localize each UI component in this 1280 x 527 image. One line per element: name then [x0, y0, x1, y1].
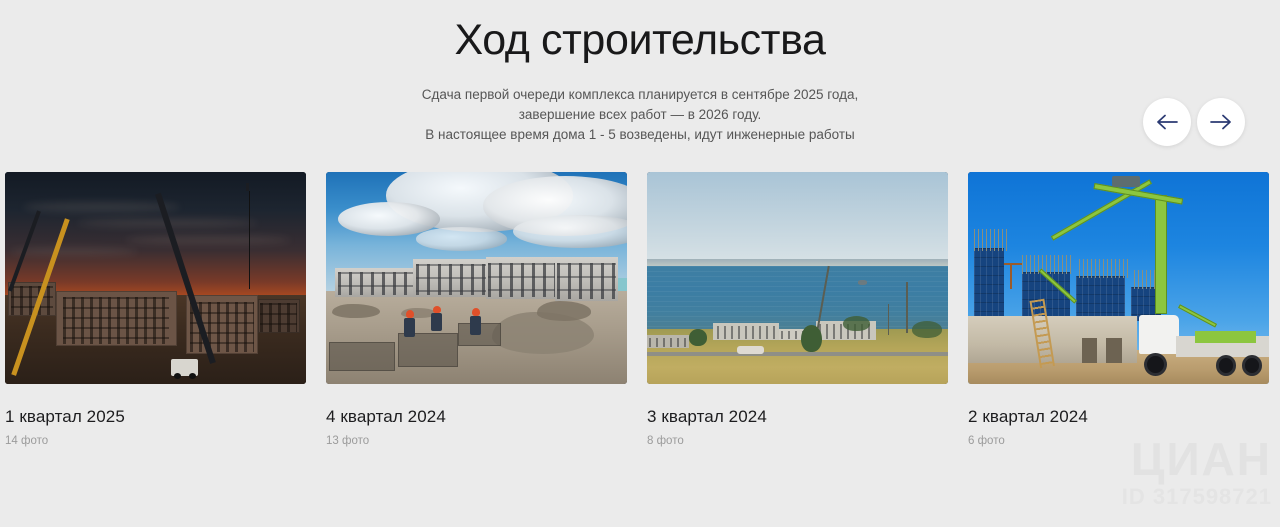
- gallery-card[interactable]: 3 квартал 2024 8 фото: [647, 172, 948, 448]
- carousel-next-button[interactable]: [1197, 98, 1245, 146]
- subtitle-line-1: Сдача первой очереди комплекса планирует…: [0, 85, 1280, 105]
- gallery-photo-sea-panorama[interactable]: [647, 172, 948, 384]
- page-title: Ход строительства: [0, 16, 1280, 64]
- watermark-listing-id: ID 317598721: [1122, 484, 1272, 509]
- gallery-card-title: 3 квартал 2024: [647, 407, 948, 427]
- arrow-right-icon: [1210, 114, 1232, 130]
- gallery-photo-concrete-pump-truck[interactable]: [968, 172, 1269, 384]
- gallery-card-photo-count: 6 фото: [968, 435, 1269, 449]
- gallery-card-photo-count: 14 фото: [5, 435, 306, 449]
- subtitle-line-3: В настоящее время дома 1 - 5 возведены, …: [0, 125, 1280, 145]
- gallery-card[interactable]: 2 квартал 2024 6 фото: [968, 172, 1269, 448]
- gallery-card-title: 4 квартал 2024: [326, 407, 627, 427]
- carousel-prev-button[interactable]: [1143, 98, 1191, 146]
- gallery-photo-sunset-construction[interactable]: [5, 172, 306, 384]
- arrow-left-icon: [1156, 114, 1178, 130]
- gallery-card-photo-count: 13 фото: [326, 435, 627, 449]
- gallery-card-title: 2 квартал 2024: [968, 407, 1269, 427]
- construction-progress-gallery: 1 квартал 2025 14 фото: [0, 172, 1280, 448]
- section-subtitle: Сдача первой очереди комплекса планирует…: [0, 85, 1280, 145]
- section-header: Ход строительства Сдача первой очереди к…: [0, 0, 1280, 145]
- gallery-photo-daytime-construction[interactable]: [326, 172, 627, 384]
- gallery-card[interactable]: 1 квартал 2025 14 фото: [5, 172, 306, 448]
- gallery-card-title: 1 квартал 2025: [5, 407, 306, 427]
- subtitle-line-2: завершение всех работ — в 2026 году.: [0, 105, 1280, 125]
- gallery-card[interactable]: 4 квартал 2024 13 фото: [326, 172, 627, 448]
- gallery-card-photo-count: 8 фото: [647, 435, 948, 449]
- carousel-navigation: [1143, 98, 1245, 146]
